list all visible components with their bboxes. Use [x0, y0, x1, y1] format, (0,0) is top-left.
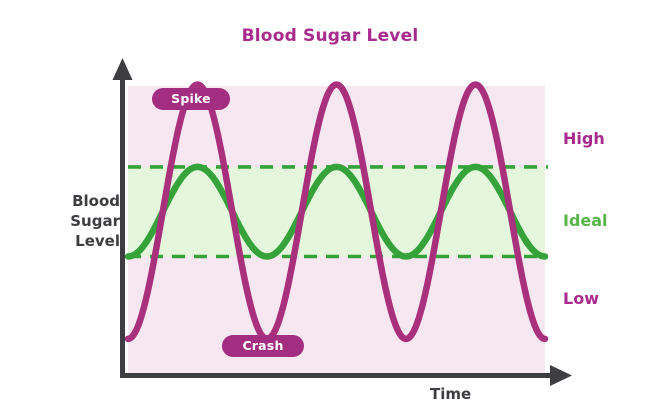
- y-axis-arrowhead-icon: [113, 58, 133, 80]
- range-label-ideal: Ideal: [563, 211, 608, 230]
- range-label-high: High: [563, 129, 605, 148]
- range-label-low: Low: [563, 289, 599, 308]
- x-axis-label: Time: [430, 385, 471, 403]
- ideal-range-band: [128, 167, 545, 257]
- blood-sugar-chart: Blood Sugar Level Blood Sugar Level Time…: [0, 0, 660, 420]
- annotation-pill-spike: Spike: [152, 88, 230, 110]
- y-axis-label: Blood Sugar Level: [36, 192, 120, 251]
- annotation-pill-crash: Crash: [222, 335, 304, 357]
- x-axis-arrowhead-icon: [550, 365, 572, 386]
